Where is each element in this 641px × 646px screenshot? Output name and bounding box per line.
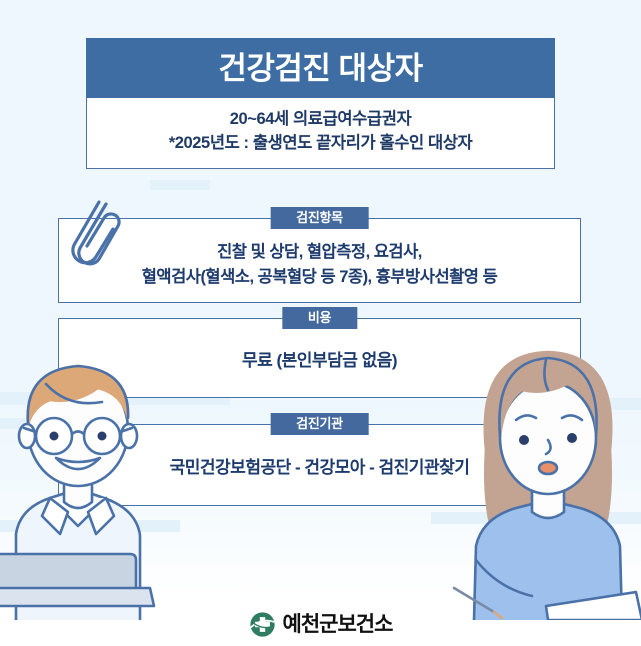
subtitle-line-1: 20~64세 의료급여수급권자 — [95, 108, 546, 132]
section-body-screening-items: 진찰 및 상담, 혈압측정, 요검사, 혈액검사(혈색소, 공복혈당 등 7종)… — [59, 219, 580, 302]
screening-institution-line-1: 국민건강보험공단 - 건강모아 - 검진기관찾기 — [170, 455, 470, 481]
footer: 예천군보건소 — [0, 611, 641, 638]
woman-with-clipboard-illustration — [450, 320, 641, 620]
header-title-bar: 건강검진 대상자 — [86, 38, 555, 98]
background-bar — [150, 180, 210, 190]
section-card-screening-items: 검진항목 진찰 및 상담, 혈압측정, 요검사, 혈액검사(혈색소, 공복혈당 … — [58, 218, 581, 303]
screening-items-line-1: 진찰 및 상담, 혈압측정, 요검사, — [217, 240, 422, 265]
page-title: 건강검진 대상자 — [218, 53, 422, 84]
header-subtitle-box: 20~64세 의료급여수급권자 *2025년도 : 출생연도 끝자리가 홀수인 … — [86, 98, 555, 169]
subtitle-line-2: *2025년도 : 출생연도 끝자리가 홀수인 대상자 — [95, 132, 546, 156]
header: 건강검진 대상자 20~64세 의료급여수급권자 *2025년도 : 출생연도 … — [86, 38, 555, 169]
health-center-logo-icon — [249, 611, 276, 638]
paperclip-icon — [66, 196, 124, 276]
screening-items-line-2: 혈액검사(혈색소, 공복혈당 등 7종), 흉부방사선촬영 등 — [142, 265, 498, 290]
organization-name: 예천군보건소 — [283, 614, 393, 635]
badge-screening-items: 검진항목 — [270, 207, 369, 229]
badge-cost: 비용 — [282, 307, 357, 329]
man-with-laptop-illustration — [0, 320, 204, 620]
cost-line-1: 무료 (본인부담금 없음) — [242, 348, 397, 374]
poster-root: 건강검진 대상자 20~64세 의료급여수급권자 *2025년도 : 출생연도 … — [0, 0, 641, 646]
badge-screening-institution: 검진기관 — [270, 413, 369, 435]
